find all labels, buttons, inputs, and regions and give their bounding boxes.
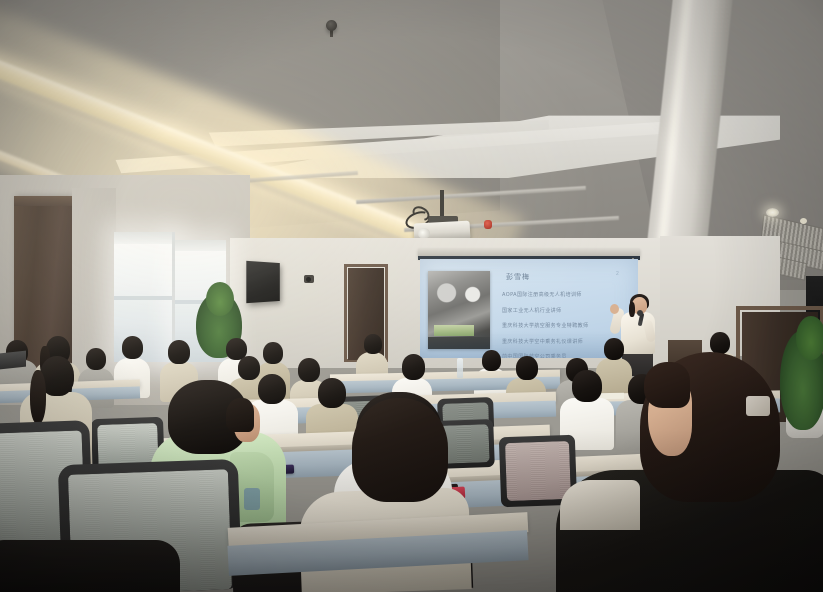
attendee-head <box>482 350 501 371</box>
hair-clip-icon <box>746 396 770 416</box>
attendee-head <box>402 354 425 380</box>
attendee-head <box>572 370 602 402</box>
attendee-head <box>258 374 286 404</box>
attendee-head <box>168 340 190 364</box>
wood-wall-panel-top <box>14 196 72 206</box>
attendee-head <box>122 336 143 359</box>
slide-title: 彭雪梅 <box>506 272 530 282</box>
slide-page-number: 2 <box>616 271 619 277</box>
attendee-head <box>318 378 346 408</box>
attendee-head <box>263 342 283 364</box>
attendee-collar <box>560 480 640 530</box>
conference-room-photo: 彭雪梅 2 AOPA国际注册高级无人机培训师 国家工业无人机行业讲师 重庆科技大… <box>0 0 823 592</box>
downlight-icon <box>766 208 779 217</box>
attendee-ponytail <box>30 370 46 424</box>
attendee-black-top-fringe <box>644 362 690 408</box>
sprinkler-head-icon <box>484 220 492 229</box>
slide-bullet: AOPA国际注册高级无人机培训师 <box>502 291 632 298</box>
chair-mesh <box>505 441 571 501</box>
window-blind-icon <box>174 240 226 251</box>
attendee-mint-polo-print <box>244 488 260 510</box>
window-blind-icon <box>114 232 174 244</box>
water-bottle-icon <box>457 358 463 378</box>
attendee-head <box>364 334 382 354</box>
microphone-capsule <box>637 310 643 316</box>
speaker-hand <box>610 304 619 314</box>
wall-display-icon <box>246 261 279 303</box>
smoke-detector-icon <box>326 20 337 31</box>
attendee-head <box>86 348 106 370</box>
attendee-foreground-head <box>352 398 448 502</box>
speaker-hair-side <box>629 302 635 317</box>
attendee-mint-polo-hair <box>226 398 254 432</box>
camera-lens <box>306 277 311 282</box>
potted-plant-left-top <box>206 282 234 316</box>
attendee-head <box>298 358 320 382</box>
downlight-icon <box>800 218 807 224</box>
attendee-head <box>604 338 624 360</box>
potted-plant-right-top <box>796 316 823 360</box>
attendee-head <box>238 356 260 380</box>
attendee-head <box>516 356 538 380</box>
chair-foreground-dark[interactable] <box>0 540 180 592</box>
laptop-icon <box>0 351 26 370</box>
attendee-head <box>710 332 730 354</box>
window-rail <box>114 296 174 300</box>
